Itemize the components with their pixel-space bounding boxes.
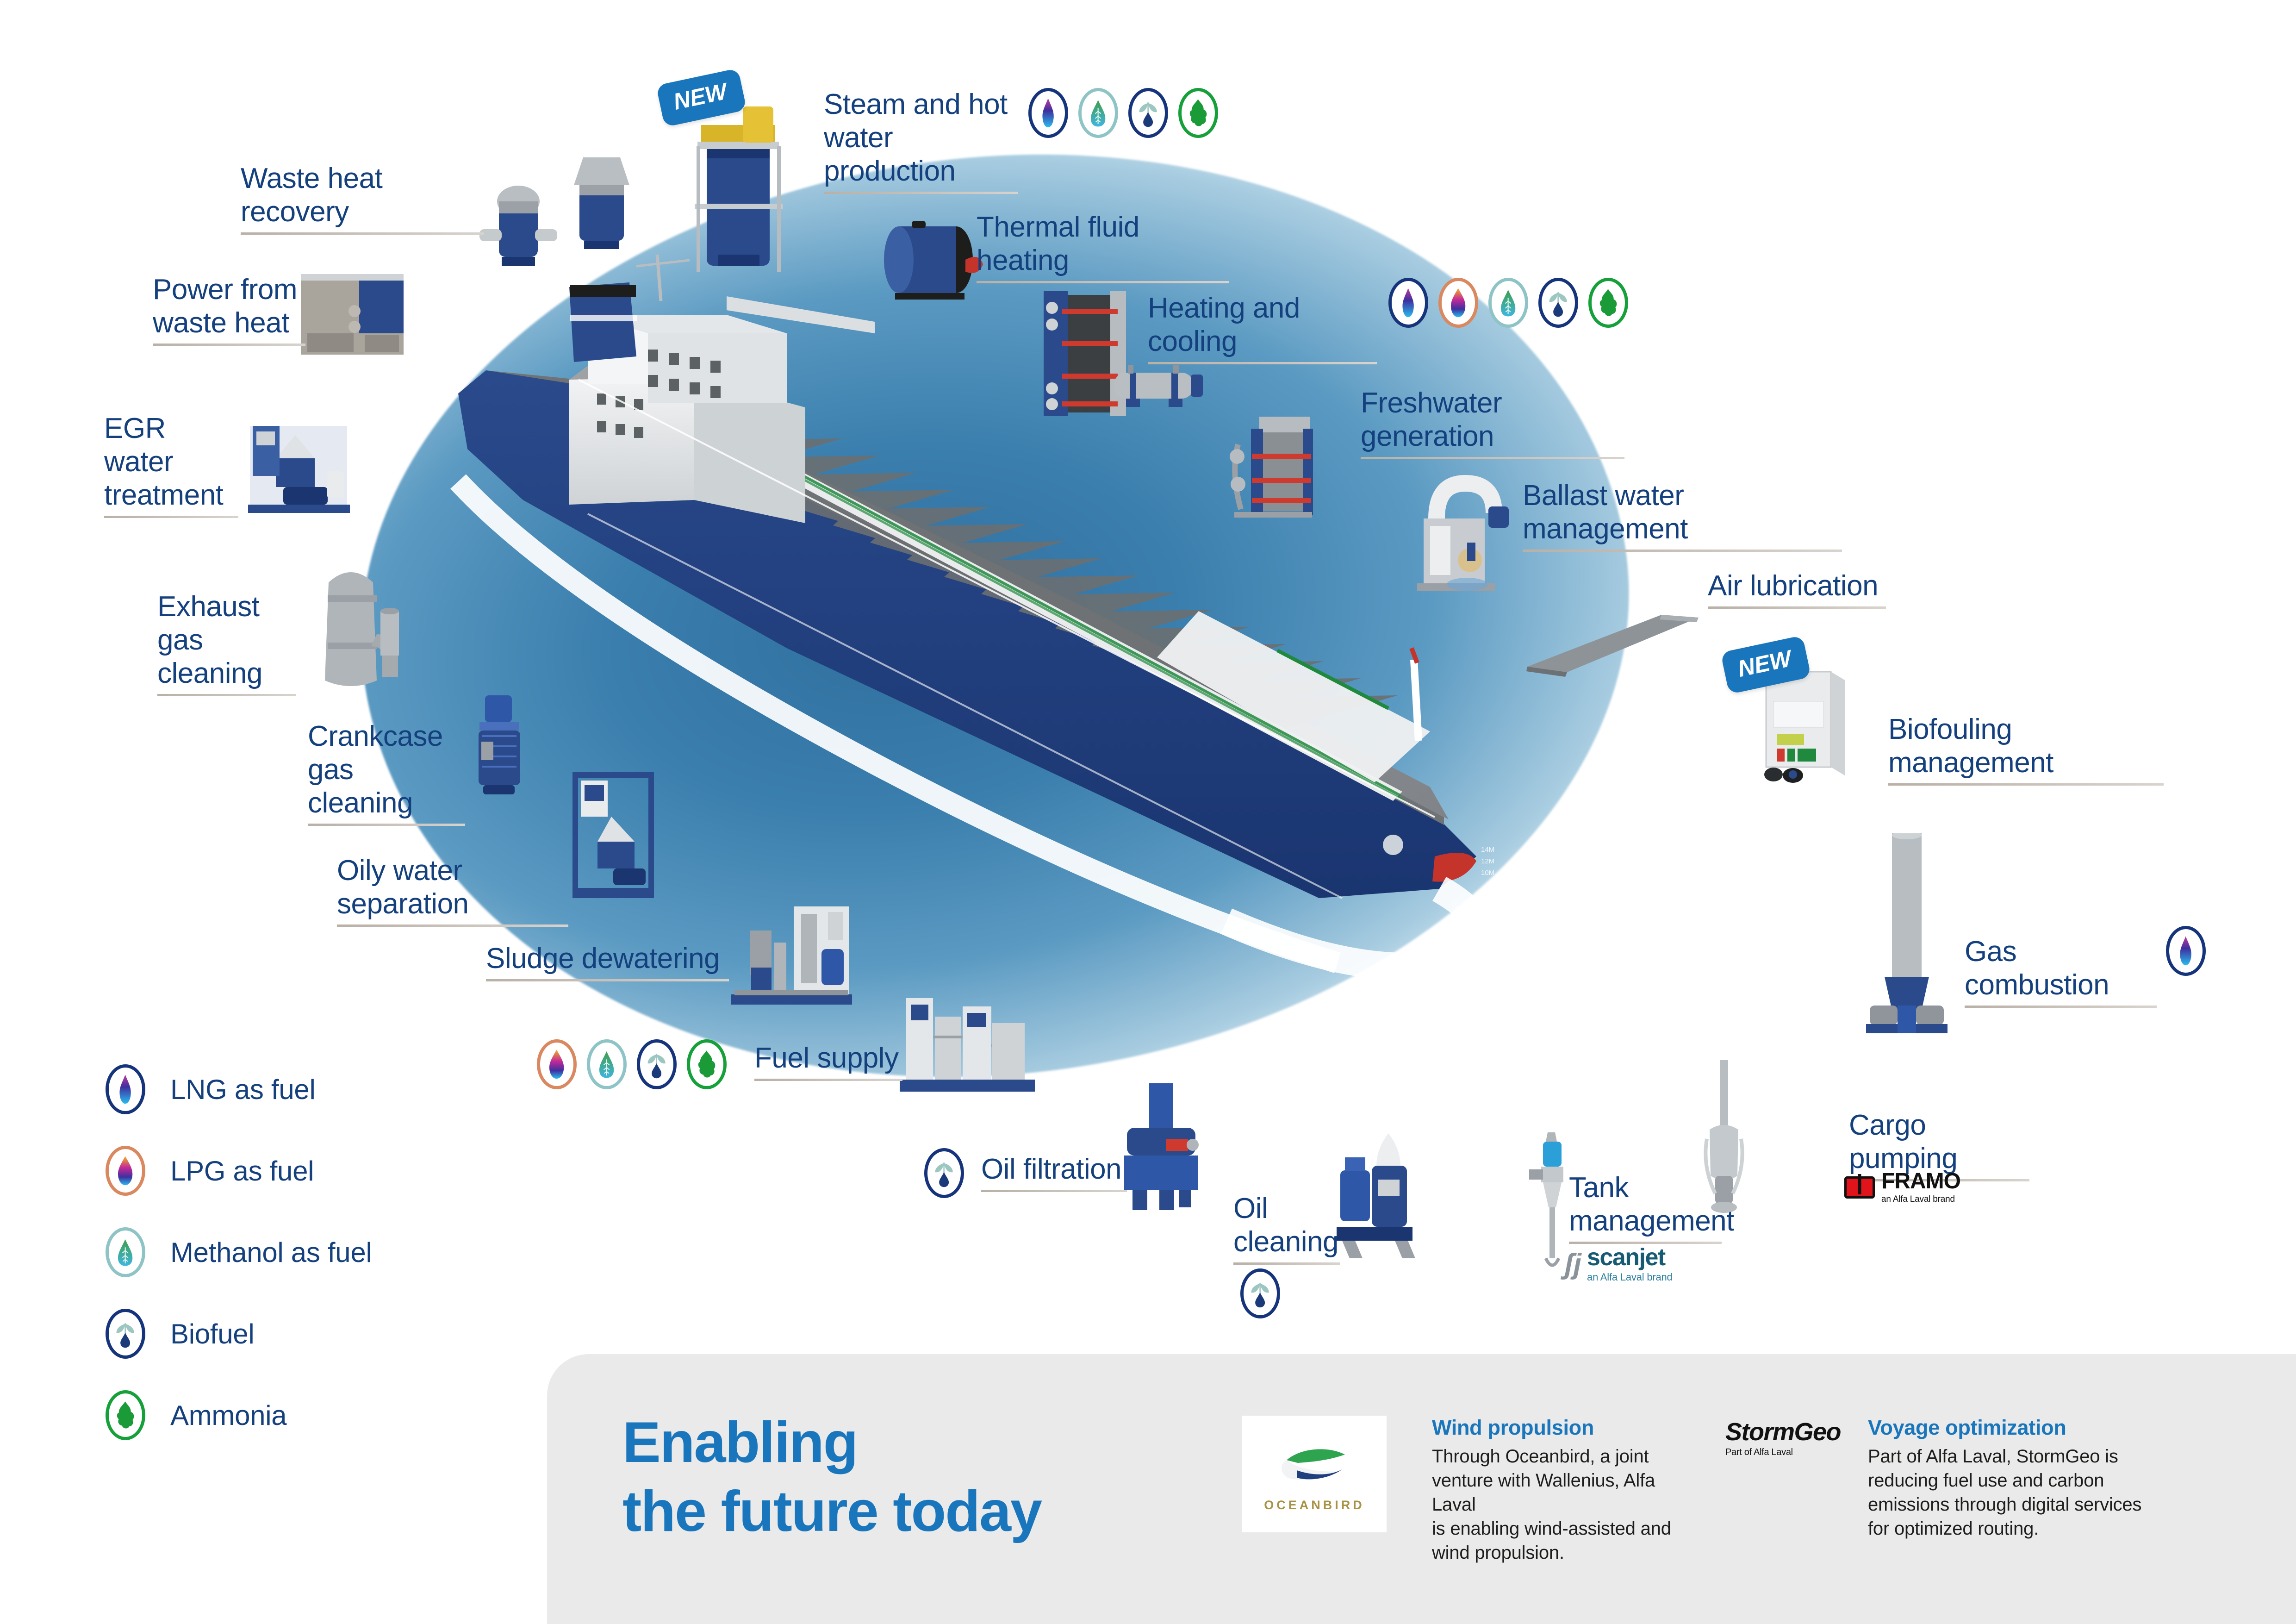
callout-rule — [754, 1079, 902, 1081]
product-oil-filter — [1108, 1079, 1215, 1218]
svg-text:12M: 12M — [1481, 857, 1494, 865]
legend-item-lng: LNG as fuel — [106, 1049, 372, 1130]
callout-thermal-fluid-heating[interactable]: Thermal fluid heating — [977, 211, 1229, 283]
ammonia-icon — [106, 1390, 145, 1440]
brand-heading: Voyage optimization — [1868, 1416, 2155, 1440]
callout-label: Oil cleaning — [1233, 1192, 1340, 1259]
callout-label: Cargo pumping — [1849, 1109, 2029, 1175]
callout-rule — [308, 824, 465, 826]
lng-fuel-icon — [1388, 278, 1428, 328]
stormgeo-tagline: Part of Alfa Laval — [1725, 1447, 1841, 1458]
methanol-fuel-icon — [1078, 88, 1118, 138]
legend-label: LNG as fuel — [170, 1074, 316, 1106]
icons-steam-hot-water — [1028, 88, 1218, 138]
callout-label: Oil filtration — [981, 1153, 1127, 1186]
callout-freshwater-generation[interactable]: Freshwater generation — [1361, 387, 1624, 459]
callout-label: Biofouling management — [1888, 713, 2164, 780]
callout-label: Crankcase gas cleaning — [308, 720, 465, 820]
lpg-fuel-icon — [1438, 278, 1478, 328]
biofuel-icon — [924, 1148, 964, 1198]
callout-fuel-supply[interactable]: Fuel supply — [754, 1042, 902, 1081]
methanol-fuel-icon — [587, 1039, 627, 1089]
legend-label: Methanol as fuel — [170, 1237, 372, 1268]
callout-rule — [1233, 1262, 1340, 1265]
callout-biofouling-management[interactable]: Biofouling management — [1888, 713, 2164, 786]
scanjet-logo: ʃj scanjet an Alfa Laval brand — [1564, 1245, 1673, 1283]
biofuel-icon — [637, 1039, 677, 1089]
callout-rule — [824, 192, 1018, 194]
lng-fuel-icon — [106, 1064, 145, 1114]
callout-rule — [1148, 362, 1377, 364]
callout-ballast-water-management[interactable]: Ballast water management — [1523, 479, 1842, 552]
legend-item-lpg: LPG as fuel — [106, 1130, 372, 1212]
callout-oily-water-separation[interactable]: Oily water separation — [337, 854, 568, 927]
framo-wordmark: FRAMO — [1881, 1170, 1960, 1193]
callout-rule — [153, 344, 305, 346]
framo-logo: FRAMO an Alfa Laval brand — [1844, 1170, 1960, 1205]
methanol-fuel-icon — [1488, 278, 1528, 328]
callout-tank-management[interactable]: Tank management — [1569, 1171, 1722, 1244]
callout-air-lubrication[interactable]: Air lubrication — [1708, 569, 1886, 609]
product-air-lubrication-panel — [1523, 606, 1703, 681]
callout-label: Heating and cooling — [1148, 292, 1377, 358]
product-thermal-fluid-heater — [870, 215, 990, 308]
callout-label: Power from waste heat — [153, 273, 305, 340]
lng-fuel-icon — [1028, 88, 1068, 138]
callout-exhaust-gas-cleaning[interactable]: Exhaust gas cleaning — [157, 590, 296, 696]
callout-rule — [337, 924, 568, 927]
callout-label: Waste heat recovery — [241, 162, 484, 229]
scanjet-tagline: an Alfa Laval brand — [1587, 1271, 1673, 1283]
callout-label: Fuel supply — [754, 1042, 902, 1075]
svg-text:14M: 14M — [1481, 846, 1494, 854]
oceanbird-wordmark: OCEANBIRD — [1264, 1498, 1365, 1512]
product-gas-combustion-unit — [1856, 833, 1958, 1046]
biofuel-icon — [1240, 1268, 1280, 1318]
callout-oil-filtration[interactable]: Oil filtration — [981, 1153, 1127, 1192]
callout-rule — [1965, 1006, 2157, 1008]
legend-label: Ammonia — [170, 1399, 286, 1431]
callout-rule — [1523, 550, 1842, 552]
oceanbird-mark-icon — [1268, 1436, 1361, 1492]
callout-label: Air lubrication — [1708, 569, 1886, 603]
callout-waste-heat-recovery[interactable]: Waste heat recovery — [241, 162, 484, 235]
callout-rule — [1361, 457, 1624, 459]
callout-power-from-waste-heat[interactable]: Power from waste heat — [153, 273, 305, 346]
lng-fuel-icon — [2166, 926, 2206, 976]
product-fuel-supply-skid — [893, 991, 1041, 1102]
product-waste-heat-recovery-2 — [555, 139, 648, 259]
biofuel-icon — [106, 1309, 145, 1359]
callout-rule — [1888, 783, 2164, 786]
callout-label: Freshwater generation — [1361, 387, 1624, 453]
product-shell-tube-cooler — [1104, 359, 1206, 414]
callout-label: Sludge dewatering — [486, 942, 729, 975]
callout-rule — [977, 281, 1229, 283]
callout-label: EGR water treatment — [104, 412, 238, 512]
framo-mark-icon — [1844, 1176, 1875, 1199]
product-egr-water-treatment — [241, 407, 356, 523]
callout-label: Thermal fluid heating — [977, 211, 1229, 277]
footer-title: Enabling the future today — [622, 1408, 1041, 1546]
legend-label: LPG as fuel — [170, 1155, 314, 1187]
infographic-canvas: 14M12M 10M — [0, 0, 2296, 1624]
product-waste-heat-recovery — [472, 164, 565, 280]
callout-rule — [486, 979, 729, 981]
framo-tagline: an Alfa Laval brand — [1881, 1194, 1960, 1205]
callout-gas-combustion[interactable]: Gas combustion — [1965, 935, 2157, 1008]
callout-label: Ballast water management — [1523, 479, 1842, 546]
fuel-legend: LNG as fuel LPG as fuel Methanol as fuel — [106, 1049, 372, 1456]
legend-item-ammonia: Ammonia — [106, 1374, 372, 1456]
brand-body: Part of Alfa Laval, StormGeo is reducing… — [1868, 1444, 2155, 1541]
stormgeo-wordmark: StormGeo — [1725, 1418, 1841, 1446]
icons-oil-cleaning — [1240, 1268, 1280, 1318]
ammonia-icon — [687, 1039, 727, 1089]
callout-label: Steam and hot water production — [824, 88, 1018, 188]
callout-oil-cleaning[interactable]: Oil cleaning — [1233, 1192, 1340, 1265]
callout-crankcase-gas-cleaning[interactable]: Crankcase gas cleaning — [308, 720, 465, 826]
ammonia-icon — [1588, 278, 1628, 328]
methanol-fuel-icon — [106, 1227, 145, 1277]
brand-block-voyage-optimization: Voyage optimization Part of Alfa Laval, … — [1868, 1416, 2155, 1541]
product-oily-water-separator — [567, 768, 660, 907]
callout-label: Exhaust gas cleaning — [157, 590, 296, 690]
product-power-waste-heat — [294, 269, 410, 366]
oceanbird-logo: OCEANBIRD — [1242, 1416, 1387, 1532]
icons-oil-filtration — [924, 1148, 964, 1198]
icons-gas-combustion — [2166, 926, 2206, 976]
legend-label: Biofuel — [170, 1318, 254, 1350]
scanjet-mark-icon: ʃj — [1564, 1250, 1581, 1279]
callout-rule — [157, 694, 296, 696]
callout-egr-water-treatment[interactable]: EGR water treatment — [104, 412, 238, 518]
lpg-fuel-icon — [537, 1039, 577, 1089]
ammonia-icon — [1178, 88, 1218, 138]
callout-rule — [241, 232, 484, 235]
biofuel-icon — [1538, 278, 1578, 328]
callout-rule — [981, 1190, 1127, 1192]
brand-heading: Wind propulsion — [1432, 1416, 1696, 1440]
callout-label: Tank management — [1569, 1171, 1722, 1238]
callout-steam-hot-water[interactable]: Steam and hot water production — [824, 88, 1018, 194]
callout-label: Oily water separation — [337, 854, 568, 921]
stormgeo-logo: StormGeo Part of Alfa Laval — [1725, 1418, 1841, 1458]
lpg-fuel-icon — [106, 1146, 145, 1196]
scanjet-wordmark: scanjet — [1587, 1245, 1673, 1269]
legend-item-methanol: Methanol as fuel — [106, 1212, 372, 1293]
product-exhaust-scrubber — [301, 556, 417, 708]
product-sludge-dewatering-unit — [724, 898, 859, 1018]
icons-heating-and-cooling — [1388, 278, 1628, 328]
product-crankcase-gas-cleaner — [463, 690, 537, 806]
icons-fuel-supply — [537, 1039, 727, 1089]
callout-heating-and-cooling[interactable]: Heating and cooling — [1148, 292, 1377, 364]
callout-rule — [104, 516, 238, 518]
brand-block-wind-propulsion: Wind propulsion Through Oceanbird, a joi… — [1432, 1416, 1696, 1565]
svg-text:10M: 10M — [1481, 869, 1494, 877]
brand-body: Through Oceanbird, a joint venture with … — [1432, 1444, 1696, 1565]
product-ballast-water-system — [1398, 468, 1513, 606]
biofuel-icon — [1128, 88, 1168, 138]
callout-rule — [1708, 606, 1886, 609]
callout-sludge-dewatering[interactable]: Sludge dewatering — [486, 942, 729, 981]
product-steam-boiler — [673, 97, 803, 282]
product-freshwater-generator — [1215, 403, 1331, 532]
callout-label: Gas combustion — [1965, 935, 2157, 1002]
legend-item-biofuel: Biofuel — [106, 1293, 372, 1374]
